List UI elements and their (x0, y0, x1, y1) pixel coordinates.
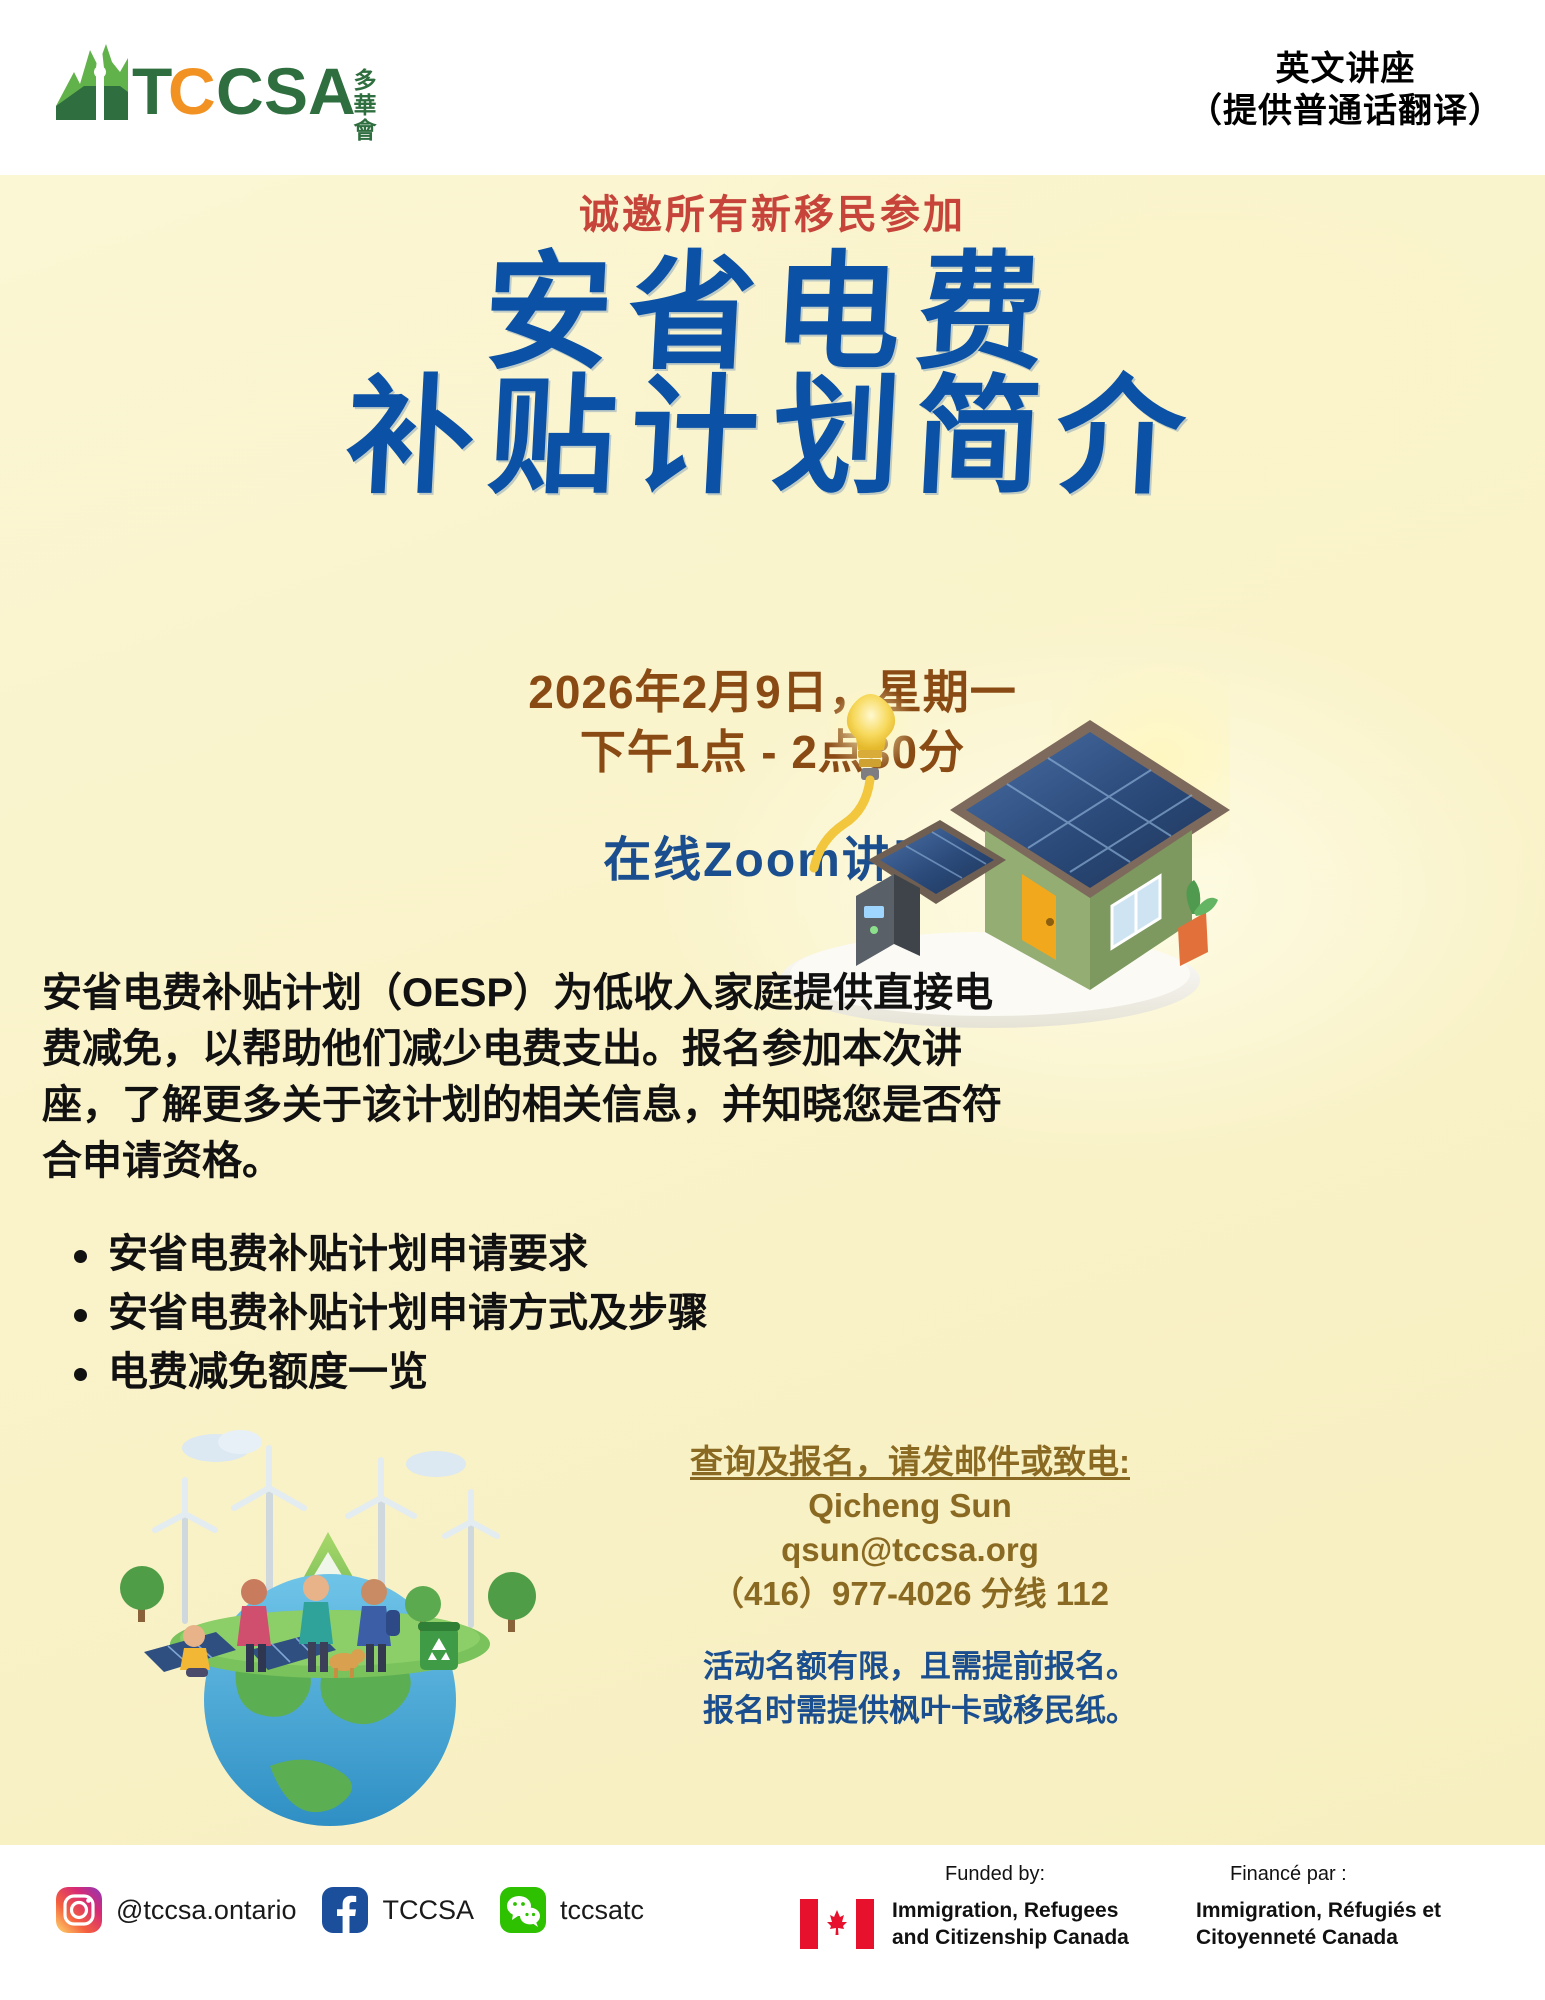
green-energy-globe-illustration (120, 1400, 540, 1830)
tccsa-logo: T C C S A 多華會 (28, 28, 368, 143)
tccsa-logo-svg: T C C S A (28, 28, 368, 143)
funded-by-label-en: Funded by: (945, 1863, 1175, 1886)
social-wechat[interactable]: tccsatc (500, 1887, 644, 1933)
contact-block: 查询及报名，请发邮件或致电: Qicheng Sun qsun@tccsa.or… (640, 1440, 1180, 1616)
government-of-canada-mark: Immigration, Refugees and Citizenship Ca… (800, 1897, 1446, 1951)
poster-header: T C C S A 多華會 英文讲座 （提供普通话翻译） (0, 0, 1545, 175)
contact-phone[interactable]: （416）977-4026 分线 112 (640, 1572, 1180, 1616)
topic-item: 电费减免额度一览 (108, 1343, 1008, 1402)
topic-item: 安省电费补贴计划申请要求 (108, 1225, 1008, 1284)
svg-text:T: T (132, 54, 172, 128)
social-links: @tccsa.ontario TCCSA (56, 1887, 644, 1933)
gov-text-fr: Immigration, Réfugiés et Citoyenneté Can… (1196, 1897, 1446, 1951)
social-instagram[interactable]: @tccsa.ontario (56, 1887, 296, 1933)
lecture-language-note: 英文讲座 （提供普通话翻译） (1188, 48, 1503, 132)
svg-text:C: C (168, 54, 216, 128)
social-facebook[interactable]: TCCSA (322, 1887, 474, 1933)
poster-root: T C C S A 多華會 英文讲座 （提供普通话翻译） 诚邀所有新移民参加 安… (0, 0, 1545, 2000)
registration-notice: 活动名额有限，且需提前报名。 报名时需提供枫叶卡或移民纸。 (640, 1645, 1200, 1733)
contact-heading: 查询及报名，请发邮件或致电: (640, 1440, 1180, 1484)
lecture-language-line1: 英文讲座 (1188, 48, 1503, 90)
canada-flag-icon (800, 1899, 874, 1949)
wechat-icon (500, 1887, 546, 1933)
facebook-handle: TCCSA (382, 1895, 474, 1926)
poster-title-line2: 补贴计划简介 (0, 372, 1545, 502)
poster-footer: @tccsa.ontario TCCSA (0, 1845, 1545, 2000)
instagram-handle: @tccsa.ontario (116, 1895, 296, 1926)
invite-line: 诚邀所有新移民参加 (0, 182, 1545, 240)
topics-list: 安省电费补贴计划申请要求 安省电费补贴计划申请方式及步骤 电费减免额度一览 (60, 1225, 1008, 1402)
funded-by-label-fr: Financé par : (1230, 1863, 1470, 1886)
instagram-icon (56, 1887, 102, 1933)
contact-name: Qicheng Sun (640, 1484, 1180, 1528)
svg-text:S: S (264, 54, 308, 128)
contact-email[interactable]: qsun@tccsa.org (640, 1528, 1180, 1572)
svg-text:A: A (308, 54, 356, 128)
tccsa-logo-chinese-name: 多華會 (350, 68, 375, 158)
gov-text-en: Immigration, Refugees and Citizenship Ca… (892, 1897, 1150, 1951)
notice-line-1: 活动名额有限，且需提前报名。 (640, 1645, 1200, 1689)
topic-item: 安省电费补贴计划申请方式及步骤 (108, 1284, 1008, 1343)
notice-line-2: 报名时需提供枫叶卡或移民纸。 (640, 1689, 1200, 1733)
svg-text:C: C (216, 54, 264, 128)
facebook-icon (322, 1887, 368, 1933)
event-description: 安省电费补贴计划（OESP）为低收入家庭提供直接电费减免，以帮助他们减少电费支出… (42, 965, 1002, 1189)
poster-title-line1: 安省电费 (0, 248, 1545, 378)
wechat-handle: tccsatc (560, 1895, 644, 1926)
lecture-language-line2: （提供普通话翻译） (1188, 90, 1503, 132)
